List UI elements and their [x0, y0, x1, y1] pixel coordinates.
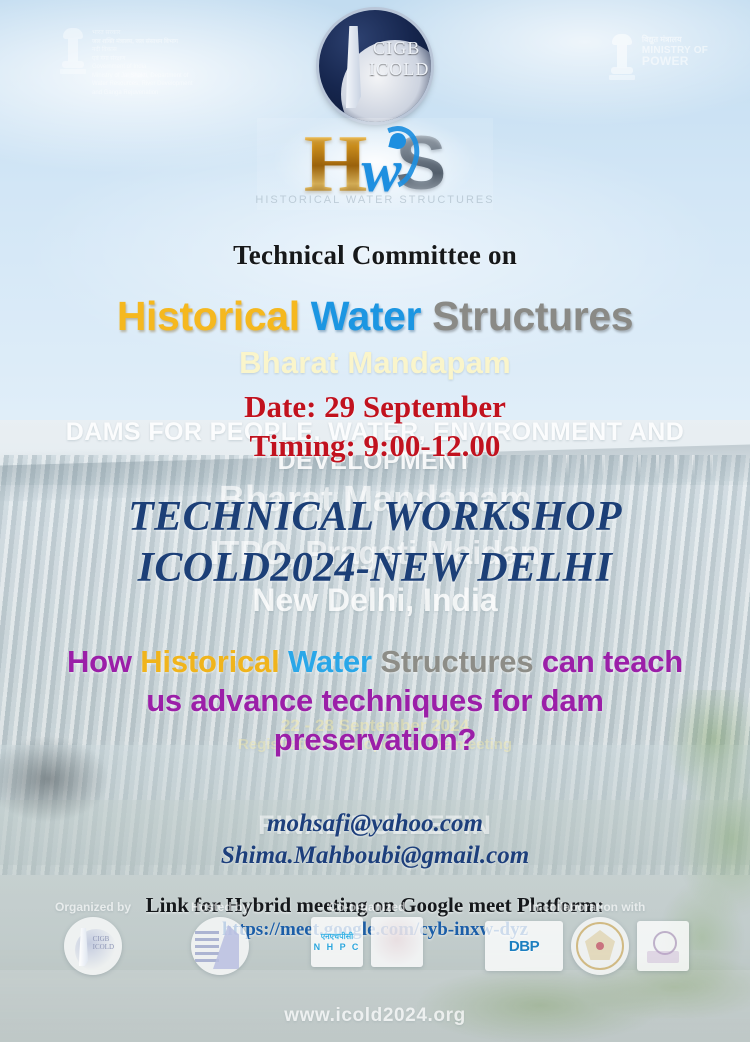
- crest-logo: [637, 921, 689, 971]
- ashoka-pillar-icon: [609, 34, 635, 80]
- sponsor-label-organized-by: Organized by: [28, 900, 158, 914]
- question-word-structures: Structures: [380, 644, 533, 679]
- hws-letter-w: w: [362, 141, 402, 201]
- event-poster: Bharat Mandapam DAMS FOR PEOPLE, WATER, …: [0, 0, 750, 1042]
- hws-letter-h: H: [304, 123, 368, 205]
- emblem-left-line-7: Water Resources, River Development: [92, 81, 192, 88]
- ministry-hindi-label: विद्युत मंत्रालय: [642, 34, 708, 45]
- page-title: Historical Water Structures: [0, 295, 750, 338]
- event-date: Date: 29 September: [0, 388, 750, 427]
- nhpc-english-text: N H P C: [314, 942, 361, 953]
- nhpc-logo: एनएचपीसी N H P C: [311, 917, 363, 967]
- ministry-line-2: POWER: [642, 56, 708, 67]
- committee-label: Technical Committee on: [0, 240, 750, 271]
- dbp-logo-text: DBP: [509, 938, 539, 955]
- workshop-question: How Historical Water Structures can teac…: [0, 642, 750, 759]
- partner-logo-pale: [371, 917, 423, 967]
- title-word-structures: Structures: [432, 293, 633, 339]
- question-line-3: preservation?: [34, 720, 716, 759]
- ministry-of-power-emblem: विद्युत मंत्रालय MINISTRY OF POWER: [609, 34, 708, 80]
- icold-small-text-cigb: CIGB: [93, 935, 110, 943]
- emblem-left-line-8: and Ganga Rejuvenation: [92, 90, 192, 97]
- contact-emails: mohsafi@yahoo.com Shima.Mahboubi@gmail.c…: [0, 808, 750, 872]
- workshop-heading-line-2: ICOLD2024-NEW DELHI: [0, 543, 750, 594]
- question-part-1: How: [67, 644, 132, 679]
- workshop-heading: TECHNICAL WORKSHOP ICOLD2024-NEW DELHI: [0, 492, 750, 594]
- sponsor-label-collaboration: In collaboration with: [452, 900, 722, 914]
- nhpc-hindi-text: एनएचपीसी: [314, 931, 361, 942]
- question-part-2: can teach: [542, 644, 683, 679]
- dbp-logo: DBP: [485, 921, 563, 971]
- contact-email-2[interactable]: Shima.Mahboubi@gmail.com: [0, 840, 750, 872]
- event-timing: Timing: 9:00-12.00: [0, 427, 750, 466]
- government-of-india-emblem: भारत सरकार जल शक्ति मंत्रालय, जल संसाधन …: [60, 28, 192, 97]
- hws-logo: H w S HISTORICAL WATER STRUCTURES: [257, 118, 493, 210]
- seal-logo: [571, 917, 629, 975]
- ghost-symposium-text: Bharat Mandapam: [0, 345, 750, 381]
- title-word-historical: Historical: [117, 293, 300, 339]
- sponsor-group-collaboration: In collaboration with DBP: [452, 900, 722, 975]
- icold-small-text-icold: ICOLD: [93, 943, 114, 951]
- emblem-left-line-5: Government of India: [92, 64, 192, 71]
- emblem-left-text: भारत सरकार जल शक्ति मंत्रालय, जल संसाधन …: [92, 28, 192, 97]
- sponsor-label-co-organized: Co-organized: [282, 900, 452, 914]
- cigb-icold-logo-small: CIGB ICOLD: [64, 917, 122, 975]
- ministry-of-power-text: विद्युत मंत्रालय MINISTRY OF POWER: [642, 34, 708, 67]
- event-datetime: Date: 29 September Timing: 9:00-12.00: [0, 388, 750, 466]
- question-word-historical: Historical: [140, 644, 279, 679]
- incold-dam-logo: [191, 917, 249, 975]
- sponsor-strip: Organized by CIGB ICOLD Hosted by: [0, 900, 750, 1012]
- emblem-left-line-4: एवं गंगा संरक्षण: [92, 56, 192, 63]
- sponsor-group-hosted-by: Hosted by: [160, 900, 280, 975]
- icold-logo-text-cigb: CIGB: [373, 38, 420, 59]
- emblem-left-line-2: जल शक्ति मंत्रालय, जल संसाधन विभाग: [92, 39, 192, 46]
- workshop-heading-line-1: TECHNICAL WORKSHOP: [0, 492, 750, 543]
- question-word-water: Water: [288, 644, 372, 679]
- dam-spillway-icon: [195, 931, 219, 963]
- contact-email-1[interactable]: mohsafi@yahoo.com: [0, 808, 750, 840]
- cigb-icold-logo: CIGB ICOLD: [319, 10, 431, 122]
- icold-logo-text-icold: ICOLD: [369, 59, 430, 80]
- sponsor-group-organized-by: Organized by CIGB ICOLD: [28, 900, 158, 975]
- question-line-2: us advance techniques for dam: [34, 681, 716, 720]
- sponsor-label-hosted-by: Hosted by: [160, 900, 280, 914]
- emblem-left-line-6: Ministry of Jal Shakti, Department of: [92, 73, 192, 80]
- emblem-left-line-3: नदी विकास: [92, 47, 192, 54]
- emblem-left-line-1: भारत सरकार: [92, 30, 192, 37]
- title-word-water: Water: [311, 293, 421, 339]
- ashoka-pillar-icon: [60, 28, 86, 74]
- sponsor-group-co-organized: Co-organized एनएचपीसी N H P C: [282, 900, 452, 967]
- dam-tower-icon: [346, 26, 361, 108]
- hws-logo-subtitle: HISTORICAL WATER STRUCTURES: [255, 194, 494, 206]
